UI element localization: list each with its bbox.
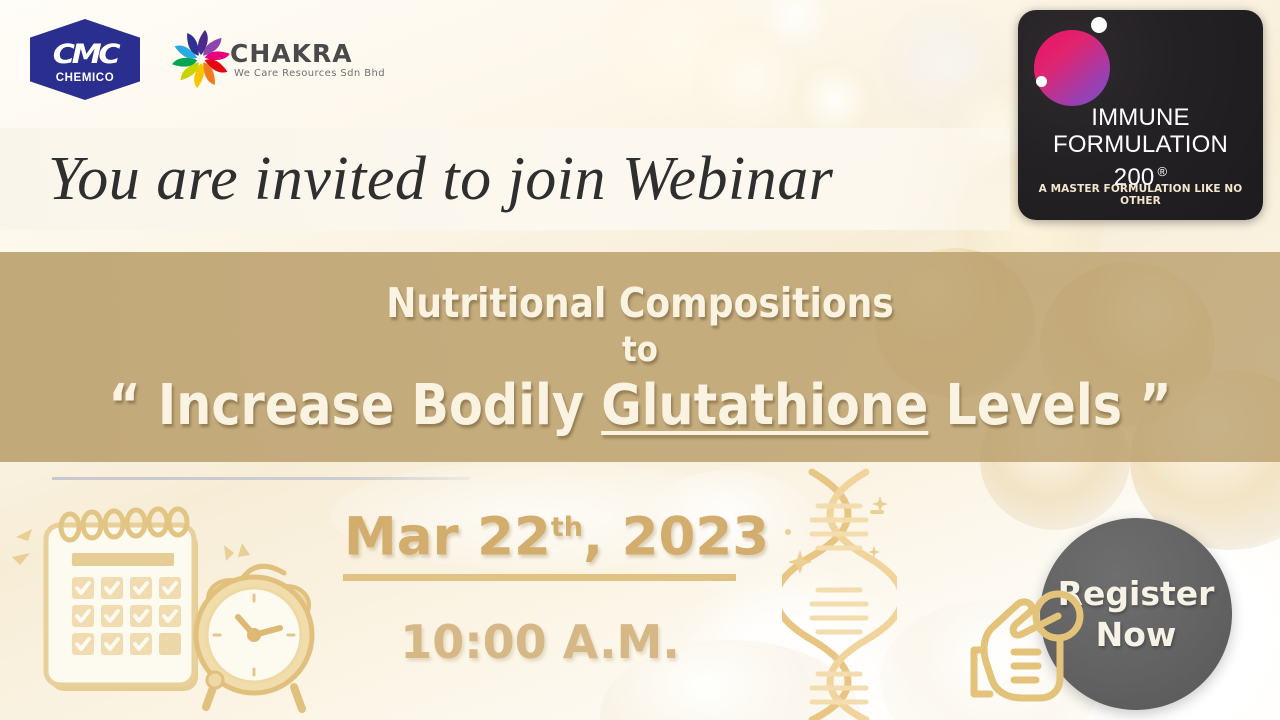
event-date-main: Mar 22	[344, 507, 551, 568]
chakra-tagline: We Care Resources Sdn Bhd	[234, 69, 385, 79]
event-date-suffix: th	[551, 512, 583, 543]
partner-logos: CMC CHEMICO CHAKRA We Care Re	[0, 0, 1000, 118]
chakra-logo: CHAKRA We Care Resources Sdn Bhd	[168, 26, 363, 92]
motion-lines-icon	[12, 529, 32, 565]
chakra-flower-icon	[168, 26, 234, 92]
badge-product-name: IMMUNE FORMULATION 200®	[1018, 104, 1263, 191]
webinar-invitation-poster: CMC CHEMICO CHAKRA We Care Re	[0, 0, 1280, 720]
cmc-chemico-logo: CMC CHEMICO	[30, 19, 140, 100]
title-band: Nutritional Compositions to “ Increase B…	[0, 252, 1280, 462]
title-line-1: Nutritional Compositions	[77, 278, 1203, 328]
webinar-title: Nutritional Compositions to “ Increase B…	[0, 278, 1280, 440]
chakra-wordmark: CHAKRA	[230, 41, 353, 66]
immune-formulation-badge: IMMUNE FORMULATION 200® A MASTER FORMULA…	[1018, 10, 1263, 220]
event-date: Mar 22th, 2023	[344, 497, 736, 569]
event-time: 10:00 A.M.	[344, 614, 736, 670]
title-line-2: to	[77, 328, 1203, 372]
pointing-hand-click-icon	[968, 578, 1088, 704]
clock-motion-lines-icon	[224, 543, 250, 561]
invitation-text: You are invited to join Webinar	[48, 140, 833, 218]
cmc-wordmark: CHEMICO	[30, 73, 140, 85]
invitation-band: You are invited to join Webinar	[0, 128, 1010, 230]
badge-line-1: IMMUNE	[1018, 104, 1263, 131]
quote-close: ”	[1122, 373, 1172, 438]
registered-trademark-icon: ®	[1157, 164, 1167, 179]
badge-tagline: A MASTER FORMULATION LIKE NO OTHER	[1018, 183, 1263, 207]
dna-double-helix-illustration	[782, 468, 897, 720]
badge-dot-large-icon	[1091, 17, 1107, 33]
event-date-year: , 2023	[583, 507, 769, 568]
title-line-3-post: Levels	[928, 373, 1122, 438]
calendar-and-clock-illustration	[2, 495, 322, 720]
date-divider	[343, 574, 736, 581]
alarm-clock-icon	[196, 566, 312, 709]
title-keyword-glutathione: Glutathione	[601, 373, 928, 438]
badge-dot-small-icon	[1036, 76, 1047, 87]
calendar-header-bar	[72, 553, 174, 566]
gradient-orb-icon	[1034, 30, 1110, 106]
badge-line-2: FORMULATION	[1018, 131, 1263, 158]
cmc-monogram: CMC	[23, 41, 146, 68]
dna-rungs	[812, 506, 866, 702]
title-line-3: “ Increase Bodily Glutathione Levels ”	[77, 372, 1203, 440]
title-line-3-pre: Increase Bodily	[158, 373, 601, 438]
quote-open: “	[108, 373, 158, 438]
section-divider	[52, 477, 470, 480]
